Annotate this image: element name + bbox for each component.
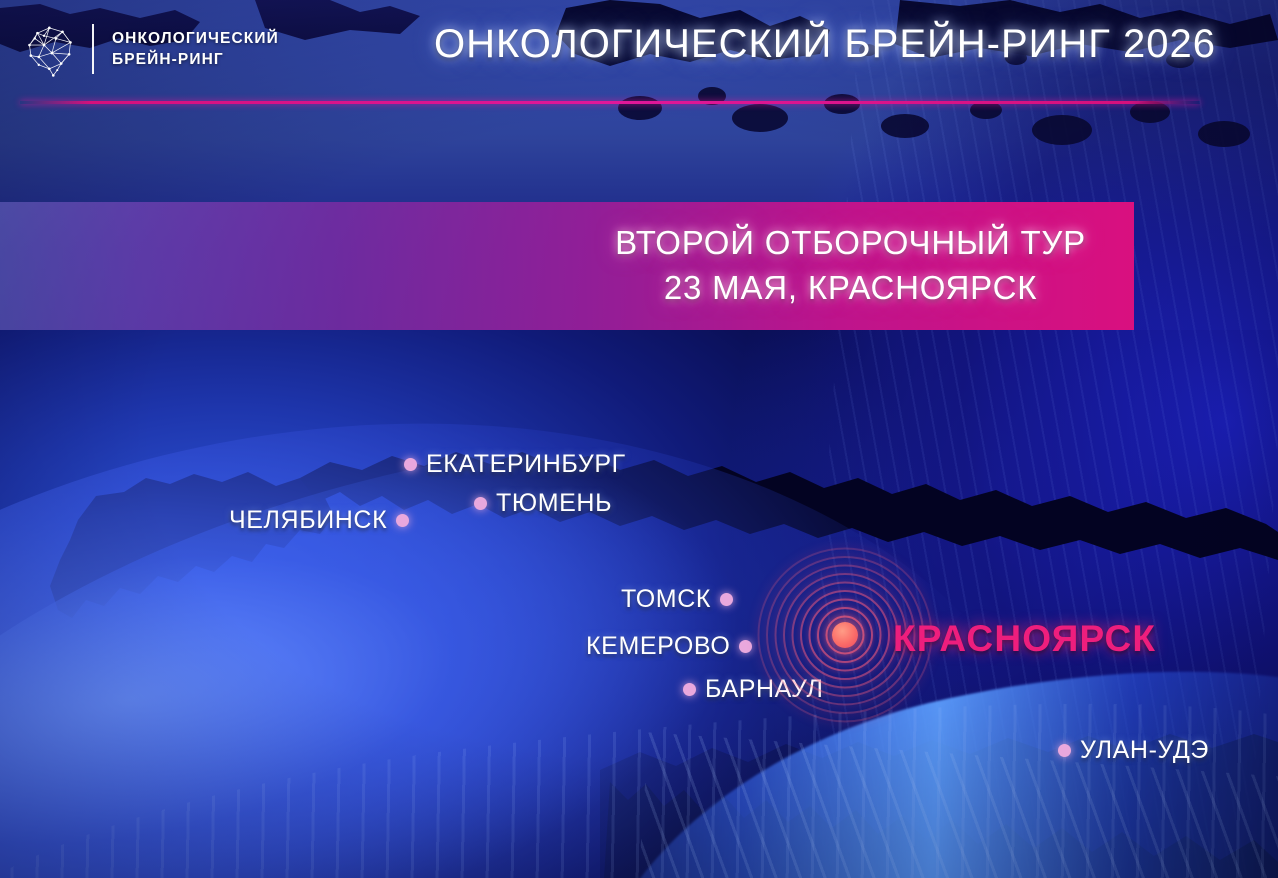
city-label: ТОМСК (621, 585, 711, 614)
poster-canvas: ОНКОЛОГИЧЕСКИЙ БРЕЙН-РИНГ ОНКОЛОГИЧЕСКИЙ… (0, 0, 1278, 878)
city-marker[interactable]: УЛАН-УДЭ (1058, 736, 1209, 765)
header: ОНКОЛОГИЧЕСКИЙ БРЕЙН-РИНГ ОНКОЛОГИЧЕСКИЙ… (0, 0, 1278, 112)
logo-line-2: БРЕЙН-РИНГ (112, 49, 279, 70)
logo-wordmark: ОНКОЛОГИЧЕСКИЙ БРЕЙН-РИНГ (112, 28, 279, 71)
city-marker[interactable]: ТЮМЕНЬ (474, 489, 612, 518)
city-label: ТЮМЕНЬ (496, 489, 612, 518)
brand-logo[interactable]: ОНКОЛОГИЧЕСКИЙ БРЕЙН-РИНГ (14, 16, 279, 82)
event-banner: ВТОРОЙ ОТБОРОЧНЫЙ ТУР 23 МАЯ, КРАСНОЯРСК (0, 202, 1134, 330)
banner-line-2: 23 МАЯ, КРАСНОЯРСК (615, 266, 1086, 311)
city-label: ЧЕЛЯБИНСК (229, 506, 387, 535)
accent-divider-line (20, 101, 1200, 104)
logo-line-1: ОНКОЛОГИЧЕСКИЙ (112, 28, 279, 49)
city-dot-icon (739, 640, 752, 653)
city-dot-icon (396, 514, 409, 527)
city-dot-icon (720, 593, 733, 606)
banner-text: ВТОРОЙ ОТБОРОЧНЫЙ ТУР 23 МАЯ, КРАСНОЯРСК (615, 221, 1134, 311)
page-title: ОНКОЛОГИЧЕСКИЙ БРЕЙН-РИНГ 2026 (420, 22, 1230, 67)
city-marker[interactable]: ЕКАТЕРИНБУРГ (404, 450, 626, 479)
city-label: УЛАН-УДЭ (1080, 736, 1209, 765)
logo-divider (92, 24, 94, 74)
city-dot-icon (404, 458, 417, 471)
city-marker[interactable]: КЕМЕРОВО (586, 632, 752, 661)
city-marker[interactable]: ТОМСК (621, 585, 733, 614)
city-marker[interactable]: ЧЕЛЯБИНСК (229, 506, 409, 535)
city-label: КЕМЕРОВО (586, 632, 730, 661)
krasnoyarsk-center-dot (832, 622, 858, 648)
city-dot-icon (683, 683, 696, 696)
brain-network-icon (14, 16, 82, 82)
banner-line-1: ВТОРОЙ ОТБОРОЧНЫЙ ТУР (615, 224, 1086, 261)
city-dot-icon (474, 497, 487, 510)
krasnoyarsk-label: КРАСНОЯРСК (893, 618, 1156, 660)
city-label: ЕКАТЕРИНБУРГ (426, 450, 626, 479)
city-dot-icon (1058, 744, 1071, 757)
